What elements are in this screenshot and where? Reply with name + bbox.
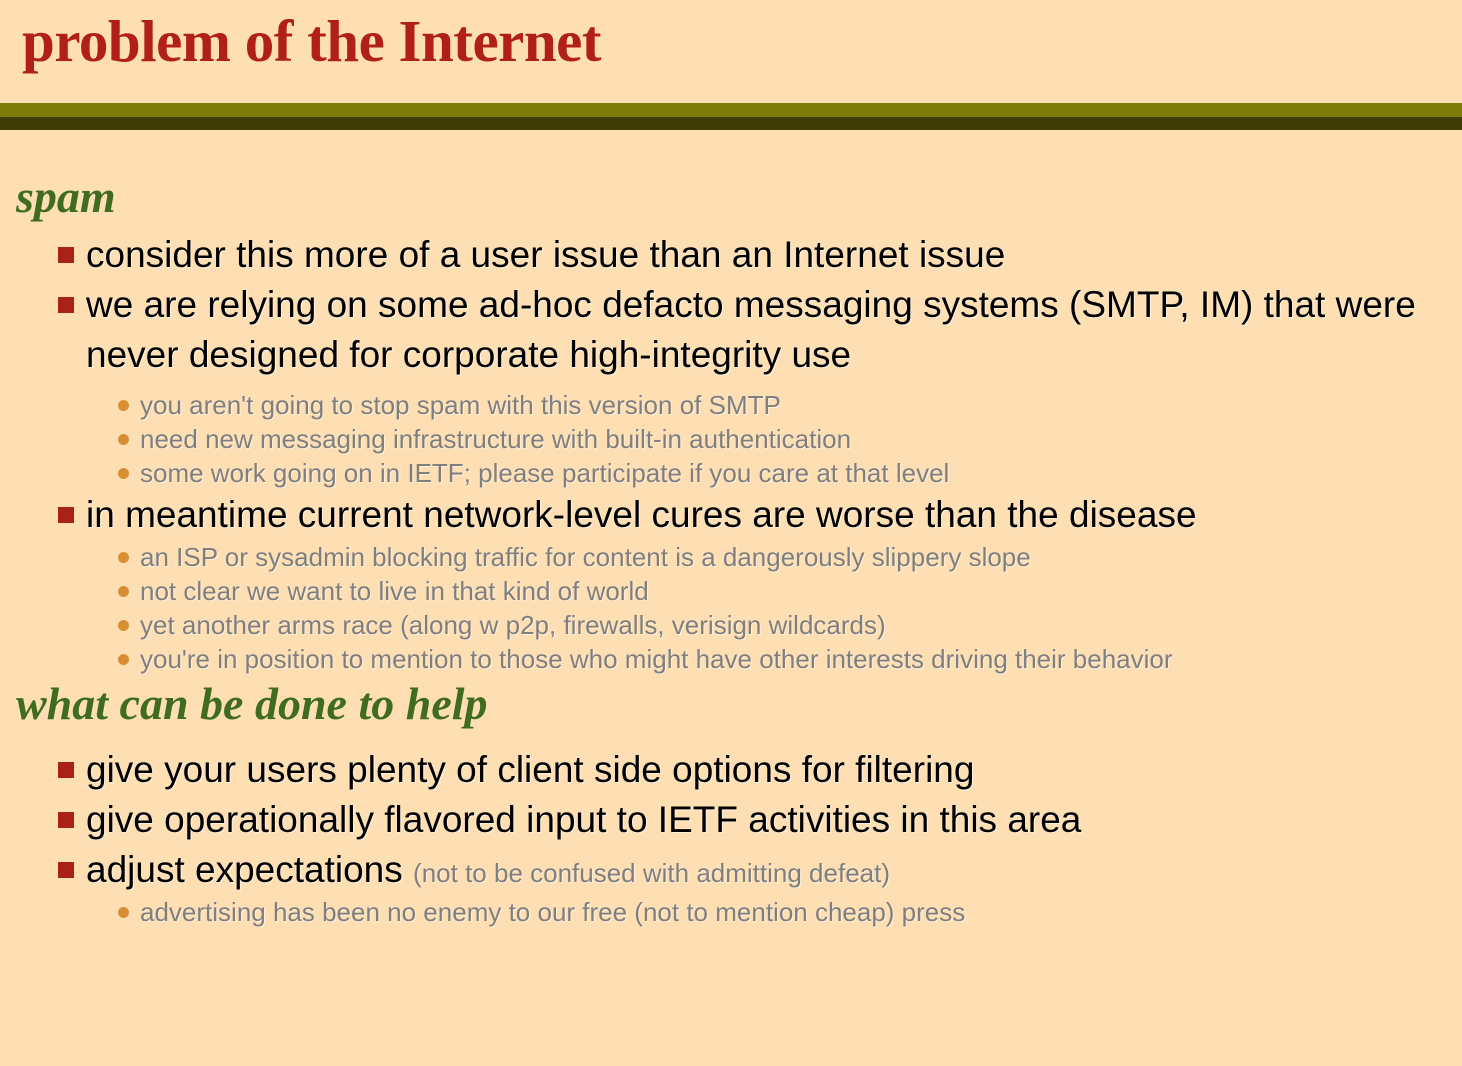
dot-bullet-icon [118, 907, 129, 918]
slide-body: spam consider this more of a user issue … [0, 130, 1462, 1066]
bullet-list-help-3: adjust expectations (not to be confused … [50, 845, 1450, 898]
bullet-list-spam-3: in meantime current network-level cures … [50, 490, 1450, 540]
sub-bullet-text: an ISP or sysadmin blocking traffic for … [140, 542, 1031, 572]
bullet-item: in meantime current network-level cures … [50, 490, 1450, 540]
square-bullet-icon [58, 507, 74, 523]
sub-bullet-item: some work going on in IETF; please parti… [112, 456, 1450, 490]
dot-bullet-icon [118, 586, 129, 597]
bullet-item: give your users plenty of client side op… [50, 745, 1450, 795]
dot-bullet-icon [118, 400, 129, 411]
bullet-text: we are relying on some ad-hoc defacto me… [86, 284, 1416, 375]
sub-bullet-list-spam-3: an ISP or sysadmin blocking traffic for … [50, 540, 1460, 676]
slide-title: problem of the Internet [22, 6, 601, 76]
bullet-text: in meantime current network-level cures … [86, 494, 1197, 535]
bullet-item: give operationally flavored input to IET… [50, 795, 1450, 845]
sub-bullet-item: need new messaging infrastructure with b… [112, 422, 1450, 456]
dot-bullet-icon [118, 654, 129, 665]
sub-bullet-item: yet another arms race (along w p2p, fire… [112, 608, 1460, 642]
bullet-note: (not to be confused with admitting defea… [413, 858, 890, 888]
bullet-text: adjust expectations [86, 849, 403, 890]
square-bullet-icon [58, 812, 74, 828]
sub-bullet-text: not clear we want to live in that kind o… [140, 576, 649, 606]
sub-bullet-text: need new messaging infrastructure with b… [140, 424, 851, 454]
sub-bullet-text: you're in position to mention to those w… [140, 644, 1173, 674]
bullet-text: give your users plenty of client side op… [86, 749, 974, 790]
sub-bullet-item: you aren't going to stop spam with this … [112, 388, 1450, 422]
dot-bullet-icon [118, 468, 129, 479]
dot-bullet-icon [118, 552, 129, 563]
section-heading-help: what can be done to help [16, 678, 488, 730]
bullet-item: adjust expectations (not to be confused … [50, 845, 1450, 898]
sub-bullet-item: an ISP or sysadmin blocking traffic for … [112, 540, 1460, 574]
bullet-item: consider this more of a user issue than … [50, 230, 1450, 280]
dot-bullet-icon [118, 434, 129, 445]
dot-bullet-icon [118, 620, 129, 631]
square-bullet-icon [58, 862, 74, 878]
sub-bullet-text: yet another arms race (along w p2p, fire… [140, 610, 886, 640]
sub-bullet-text: advertising has been no enemy to our fre… [140, 897, 965, 927]
bullet-list-help-1: give your users plenty of client side op… [50, 745, 1450, 795]
sub-bullet-item: you're in position to mention to those w… [112, 642, 1460, 676]
divider-bar-dark [0, 117, 1462, 130]
slide: problem of the Internet spam consider th… [0, 0, 1462, 1066]
bullet-text: give operationally flavored input to IET… [86, 799, 1081, 840]
bullet-list-help-2: give operationally flavored input to IET… [50, 795, 1450, 845]
sub-bullet-item: not clear we want to live in that kind o… [112, 574, 1460, 608]
bullet-list-spam-2: we are relying on some ad-hoc defacto me… [50, 280, 1450, 380]
sub-bullet-item: advertising has been no enemy to our fre… [112, 895, 1450, 929]
sub-bullet-list-spam-2: you aren't going to stop spam with this … [50, 388, 1450, 490]
square-bullet-icon [58, 297, 74, 313]
bullet-text: consider this more of a user issue than … [86, 234, 1005, 275]
square-bullet-icon [58, 762, 74, 778]
divider-bar-light [0, 103, 1462, 117]
sub-bullet-text: you aren't going to stop spam with this … [140, 390, 781, 420]
sub-bullet-list-help-3: advertising has been no enemy to our fre… [50, 895, 1450, 929]
bullet-list-spam-1: consider this more of a user issue than … [50, 230, 1450, 280]
section-heading-spam: spam [16, 171, 116, 223]
square-bullet-icon [58, 247, 74, 263]
bullet-item: we are relying on some ad-hoc defacto me… [50, 280, 1450, 380]
sub-bullet-text: some work going on in IETF; please parti… [140, 458, 949, 488]
